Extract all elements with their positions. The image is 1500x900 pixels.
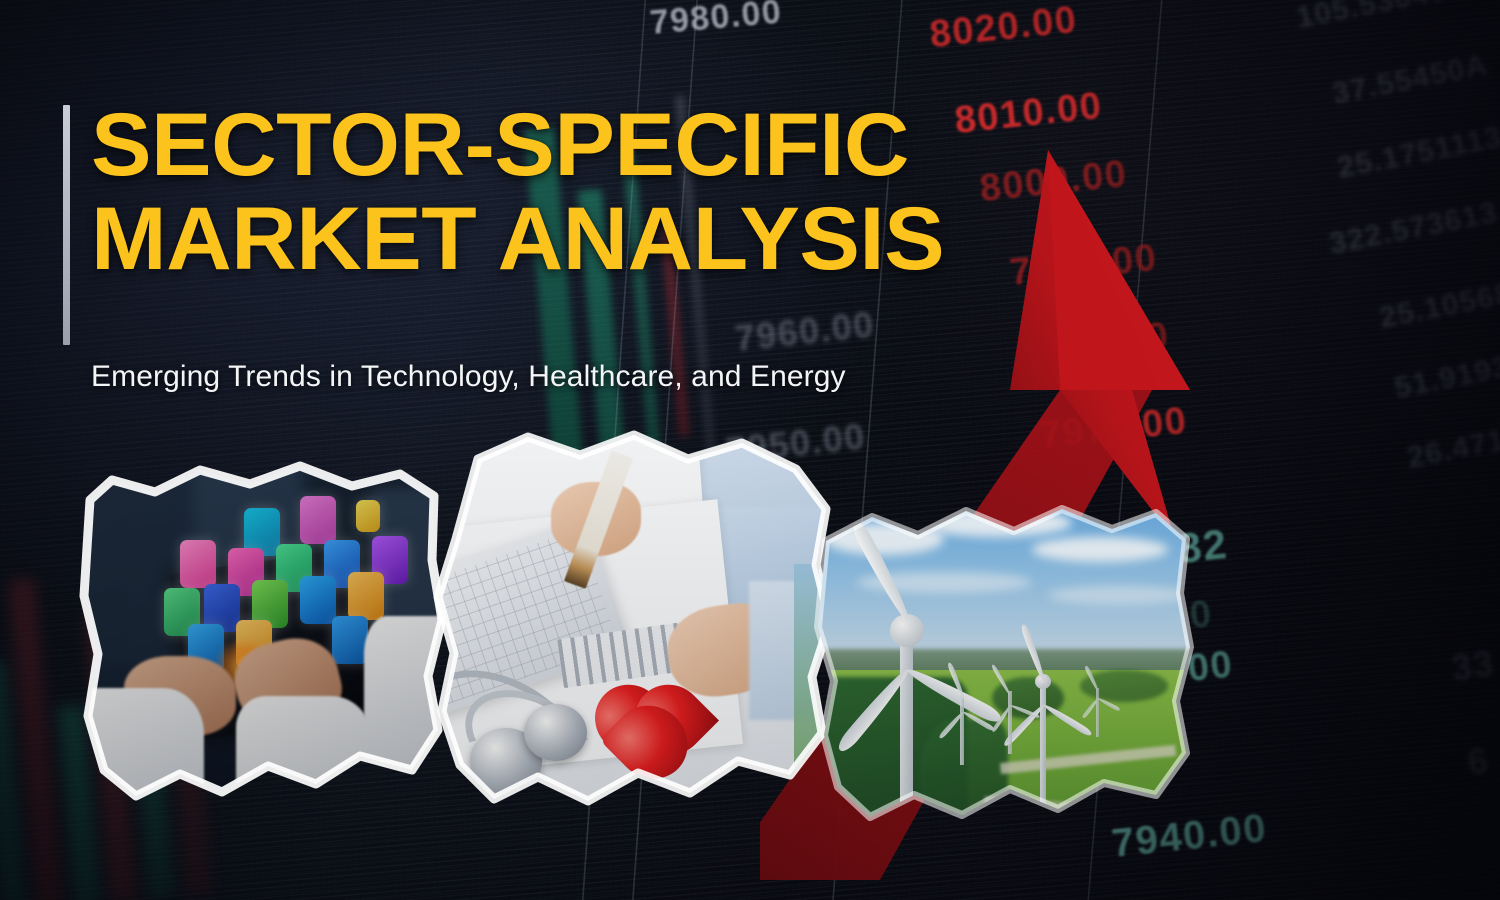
torn-photo-energy (800, 495, 1200, 845)
torn-photo-healthcare (398, 425, 848, 835)
torn-photo-collage (0, 0, 1500, 900)
banner-stage: 7980.008020.008010.008000.007990.007980.… (0, 0, 1500, 900)
